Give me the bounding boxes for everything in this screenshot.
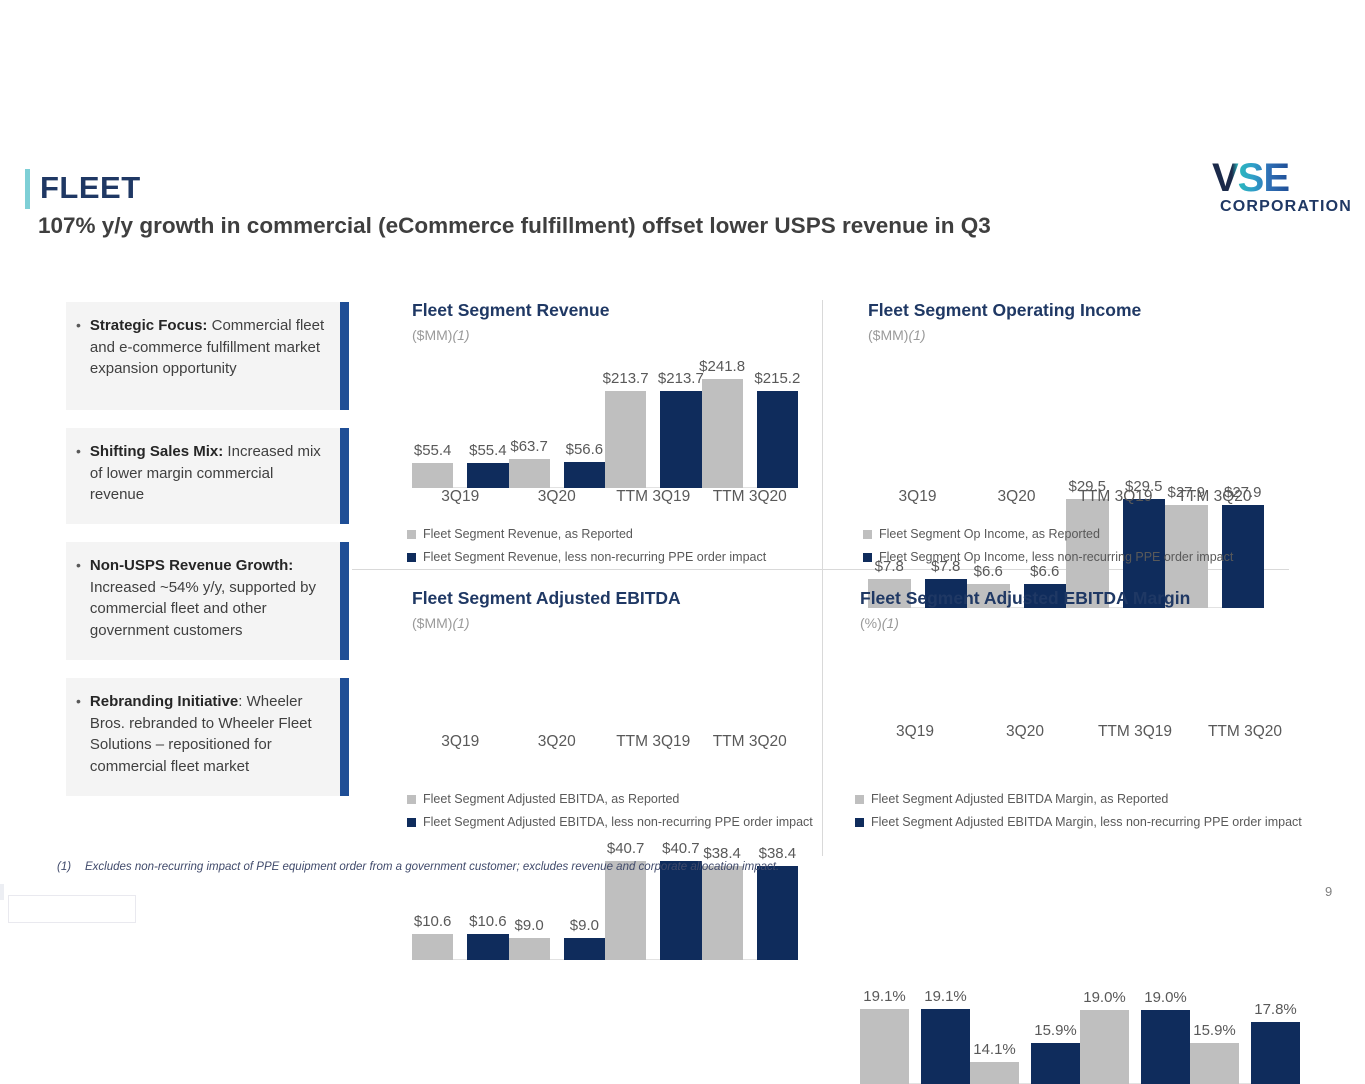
bar-group: $63.7$56.6 xyxy=(509,368,606,488)
bar-rep-ttm-3q20: $241.8 xyxy=(702,379,743,488)
bullet-icon: • xyxy=(76,315,81,380)
legend-swatch-icon xyxy=(855,795,864,804)
bar-rep-ttm-3q20: $38.4 xyxy=(702,866,743,960)
card-accent-bar xyxy=(340,428,349,524)
bar-value-label: $241.8 xyxy=(699,358,745,375)
bar-adj-ttm-3q20: $38.4 xyxy=(757,866,798,960)
bar-adj-3q20: $56.6 xyxy=(564,462,605,488)
chart-title: Fleet Segment Adjusted EBITDA xyxy=(412,588,681,609)
bar-adj-ttm-3q19: 19.0% xyxy=(1141,1010,1190,1084)
chart-header-fleet-segment-adjusted-ebitda-margin: Fleet Segment Adjusted EBITDA Margin(%)(… xyxy=(860,588,1190,631)
card-accent-bar xyxy=(340,542,349,660)
category-label: TTM 3Q20 xyxy=(702,733,799,751)
bar-value-label: 17.8% xyxy=(1254,1001,1297,1018)
legend-item[interactable]: Fleet Segment Op Income, as Reported xyxy=(863,527,1233,541)
bar-adj-3q19: $10.6 xyxy=(467,934,508,960)
bar-adj-ttm-3q19: $40.7 xyxy=(660,861,701,960)
chart-unit-label: ($MM)(1) xyxy=(412,327,609,343)
chart-header-fleet-segment-revenue: Fleet Segment Revenue($MM)(1) xyxy=(412,300,609,343)
legend-swatch-icon xyxy=(855,818,864,827)
chart-header-fleet-segment-adjusted-ebitda: Fleet Segment Adjusted EBITDA($MM)(1) xyxy=(412,588,681,631)
legend-item[interactable]: Fleet Segment Adjusted EBITDA, as Report… xyxy=(407,792,813,806)
bar-rep-ttm-3q19: $40.7 xyxy=(605,861,646,960)
bar-group: $213.7$213.7 xyxy=(605,368,702,488)
chart-legend-fleet-segment-revenue: Fleet Segment Revenue, as ReportedFleet … xyxy=(407,518,766,564)
bar-value-label: $38.4 xyxy=(759,845,797,862)
bar-group: 14.1%15.9% xyxy=(970,998,1080,1084)
legend-swatch-icon xyxy=(407,795,416,804)
bar-value-label: $9.0 xyxy=(515,917,544,934)
title-accent-bar xyxy=(25,169,30,209)
legend-item[interactable]: Fleet Segment Op Income, less non-recurr… xyxy=(863,550,1233,564)
bar-value-label: 15.9% xyxy=(1034,1022,1077,1039)
bar-adj-ttm-3q19: $213.7 xyxy=(660,391,701,488)
highlight-card: •Rebranding Initiative: Wheeler Bros. re… xyxy=(66,678,341,796)
bar-rep-ttm-3q20: 15.9% xyxy=(1190,1043,1239,1084)
slide: FLEET 107% y/y growth in commercial (eCo… xyxy=(0,0,1365,1055)
legend-label: Fleet Segment Adjusted EBITDA Margin, as… xyxy=(871,792,1168,806)
bar-value-label: $55.4 xyxy=(469,442,507,459)
bar-value-label: $213.7 xyxy=(658,370,704,387)
footnote-text: Excludes non-recurring impact of PPE equ… xyxy=(85,861,779,873)
legend-label: Fleet Segment Revenue, as Reported xyxy=(423,527,633,541)
bar-adj-3q19: 19.1% xyxy=(921,1009,970,1084)
chart-header-fleet-segment-operating-income: Fleet Segment Operating Income($MM)(1) xyxy=(868,300,1141,343)
page-subtitle: 107% y/y growth in commercial (eCommerce… xyxy=(38,213,991,239)
chart-legend-fleet-segment-adjusted-ebitda-margin: Fleet Segment Adjusted EBITDA Margin, as… xyxy=(855,783,1302,829)
bar-rep-3q19: 19.1% xyxy=(860,1009,909,1084)
bar-value-label: $38.4 xyxy=(703,845,741,862)
footnote-number: (1) xyxy=(57,861,85,873)
highlight-text: Shifting Sales Mix: Increased mix of low… xyxy=(90,441,327,506)
bar-value-label: $9.0 xyxy=(570,917,599,934)
bar-rep-3q20: $63.7 xyxy=(509,459,550,488)
legend-label: Fleet Segment Op Income, less non-recurr… xyxy=(879,550,1233,564)
bar-value-label: 19.0% xyxy=(1083,989,1126,1006)
vse-corporation-logo: VSE CORPORATION xyxy=(1212,158,1342,216)
bullet-icon: • xyxy=(76,691,81,777)
bar-value-label: $40.7 xyxy=(662,840,700,857)
bullet-icon: • xyxy=(76,441,81,506)
legend-swatch-icon xyxy=(407,818,416,827)
highlight-text: Rebranding Initiative: Wheeler Bros. reb… xyxy=(90,691,327,777)
highlight-text: Strategic Focus: Commercial fleet and e-… xyxy=(90,315,327,380)
chart-title: Fleet Segment Adjusted EBITDA Margin xyxy=(860,588,1190,609)
bar-adj-3q19: $55.4 xyxy=(467,463,508,488)
category-label: TTM 3Q19 xyxy=(605,488,702,506)
footnote: (1)Excludes non-recurring impact of PPE … xyxy=(57,861,779,873)
bar-rep-ttm-3q19: $213.7 xyxy=(605,391,646,488)
legend-label: Fleet Segment Revenue, less non-recurrin… xyxy=(423,550,766,564)
highlight-text: Non-USPS Revenue Growth: Increased ~54% … xyxy=(90,555,327,641)
bar-group: 15.9%17.8% xyxy=(1190,998,1300,1084)
bar-adj-3q20: $9.0 xyxy=(564,938,605,960)
chart-unit-label: ($MM)(1) xyxy=(412,615,681,631)
bar-value-label: 19.1% xyxy=(863,988,906,1005)
bar-value-label: $63.7 xyxy=(510,438,548,455)
chart-title: Fleet Segment Revenue xyxy=(412,300,609,321)
category-label: TTM 3Q19 xyxy=(1080,723,1190,741)
legend-item[interactable]: Fleet Segment Adjusted EBITDA Margin, le… xyxy=(855,815,1302,829)
bar-group: $55.4$55.4 xyxy=(412,368,509,488)
chart-title: Fleet Segment Operating Income xyxy=(868,300,1141,321)
category-label: 3Q19 xyxy=(868,488,967,506)
card-accent-bar xyxy=(340,302,349,410)
chart-plot-fleet-segment-adjusted-ebitda-margin: 19.1%19.1%14.1%15.9%19.0%19.0%15.9%17.8% xyxy=(860,998,1300,1084)
corner-placeholder-box xyxy=(8,895,136,923)
category-label: TTM 3Q20 xyxy=(1190,723,1300,741)
chart-unit-label: ($MM)(1) xyxy=(868,327,1141,343)
bar-rep-3q19: $10.6 xyxy=(412,934,453,960)
bar-adj-3q20: 15.9% xyxy=(1031,1043,1080,1084)
page-title: FLEET xyxy=(40,170,141,206)
chart-legend-fleet-segment-operating-income: Fleet Segment Op Income, as ReportedFlee… xyxy=(863,518,1233,564)
chart-legend-fleet-segment-adjusted-ebitda: Fleet Segment Adjusted EBITDA, as Report… xyxy=(407,783,813,829)
bullet-icon: • xyxy=(76,555,81,641)
bar-value-label: $55.4 xyxy=(414,442,452,459)
bar-value-label: $6.6 xyxy=(974,563,1003,580)
chart-plot-fleet-segment-revenue: $55.4$55.4$63.7$56.6$213.7$213.7$241.8$2… xyxy=(412,368,798,488)
bar-value-label: 19.0% xyxy=(1144,989,1187,1006)
bar-group: 19.1%19.1% xyxy=(860,998,970,1084)
legend-swatch-icon xyxy=(863,553,872,562)
legend-label: Fleet Segment Op Income, as Reported xyxy=(879,527,1100,541)
category-label: 3Q20 xyxy=(967,488,1066,506)
legend-swatch-icon xyxy=(863,530,872,539)
legend-label: Fleet Segment Adjusted EBITDA, as Report… xyxy=(423,792,679,806)
category-label: 3Q20 xyxy=(970,723,1080,741)
vertical-divider xyxy=(822,300,823,856)
legend-item[interactable]: Fleet Segment Adjusted EBITDA, less non-… xyxy=(407,815,813,829)
category-label: 3Q19 xyxy=(412,733,509,751)
legend-item[interactable]: Fleet Segment Revenue, as Reported xyxy=(407,527,766,541)
highlight-card: •Non-USPS Revenue Growth: Increased ~54%… xyxy=(66,542,341,660)
bar-value-label: 19.1% xyxy=(924,988,967,1005)
highlight-card: •Strategic Focus: Commercial fleet and e… xyxy=(66,302,341,410)
bar-value-label: 14.1% xyxy=(973,1041,1016,1058)
category-label: 3Q19 xyxy=(860,723,970,741)
edge-marker xyxy=(0,884,4,900)
bar-rep-3q20: $9.0 xyxy=(509,938,550,960)
page-number: 9 xyxy=(1325,884,1332,899)
category-label: 3Q20 xyxy=(509,488,606,506)
card-accent-bar xyxy=(340,678,349,796)
logo-subtext: CORPORATION xyxy=(1220,198,1352,216)
legend-item[interactable]: Fleet Segment Adjusted EBITDA Margin, as… xyxy=(855,792,1302,806)
category-label: TTM 3Q20 xyxy=(702,488,799,506)
bar-value-label: 15.9% xyxy=(1193,1022,1236,1039)
bar-value-label: $10.6 xyxy=(469,913,507,930)
bar-value-label: $10.6 xyxy=(414,913,452,930)
highlight-card: •Shifting Sales Mix: Increased mix of lo… xyxy=(66,428,341,524)
bar-adj-ttm-3q20: $215.2 xyxy=(757,391,798,488)
legend-label: Fleet Segment Adjusted EBITDA Margin, le… xyxy=(871,815,1302,829)
bar-adj-ttm-3q20: 17.8% xyxy=(1251,1022,1300,1084)
legend-label: Fleet Segment Adjusted EBITDA, less non-… xyxy=(423,815,813,829)
legend-swatch-icon xyxy=(407,553,416,562)
highlights-list: •Strategic Focus: Commercial fleet and e… xyxy=(66,302,341,814)
category-label: TTM 3Q19 xyxy=(1066,488,1165,506)
bar-value-label: $56.6 xyxy=(566,441,604,458)
bar-rep-3q20: 14.1% xyxy=(970,1062,1019,1084)
legend-item[interactable]: Fleet Segment Revenue, less non-recurrin… xyxy=(407,550,766,564)
bar-value-label: $213.7 xyxy=(603,370,649,387)
category-label: TTM 3Q20 xyxy=(1165,488,1264,506)
chart-unit-label: (%)(1) xyxy=(860,615,1190,631)
bar-value-label: $40.7 xyxy=(607,840,645,857)
legend-swatch-icon xyxy=(407,530,416,539)
category-label: TTM 3Q19 xyxy=(605,733,702,751)
bar-group: 19.0%19.0% xyxy=(1080,998,1190,1084)
bar-rep-3q19: $55.4 xyxy=(412,463,453,488)
bar-value-label: $6.6 xyxy=(1030,563,1059,580)
logo-wordmark: VSE xyxy=(1212,158,1289,198)
bar-value-label: $215.2 xyxy=(754,370,800,387)
bar-rep-ttm-3q19: 19.0% xyxy=(1080,1010,1129,1084)
category-label: 3Q20 xyxy=(509,733,606,751)
category-label: 3Q19 xyxy=(412,488,509,506)
bar-group: $241.8$215.2 xyxy=(702,368,799,488)
